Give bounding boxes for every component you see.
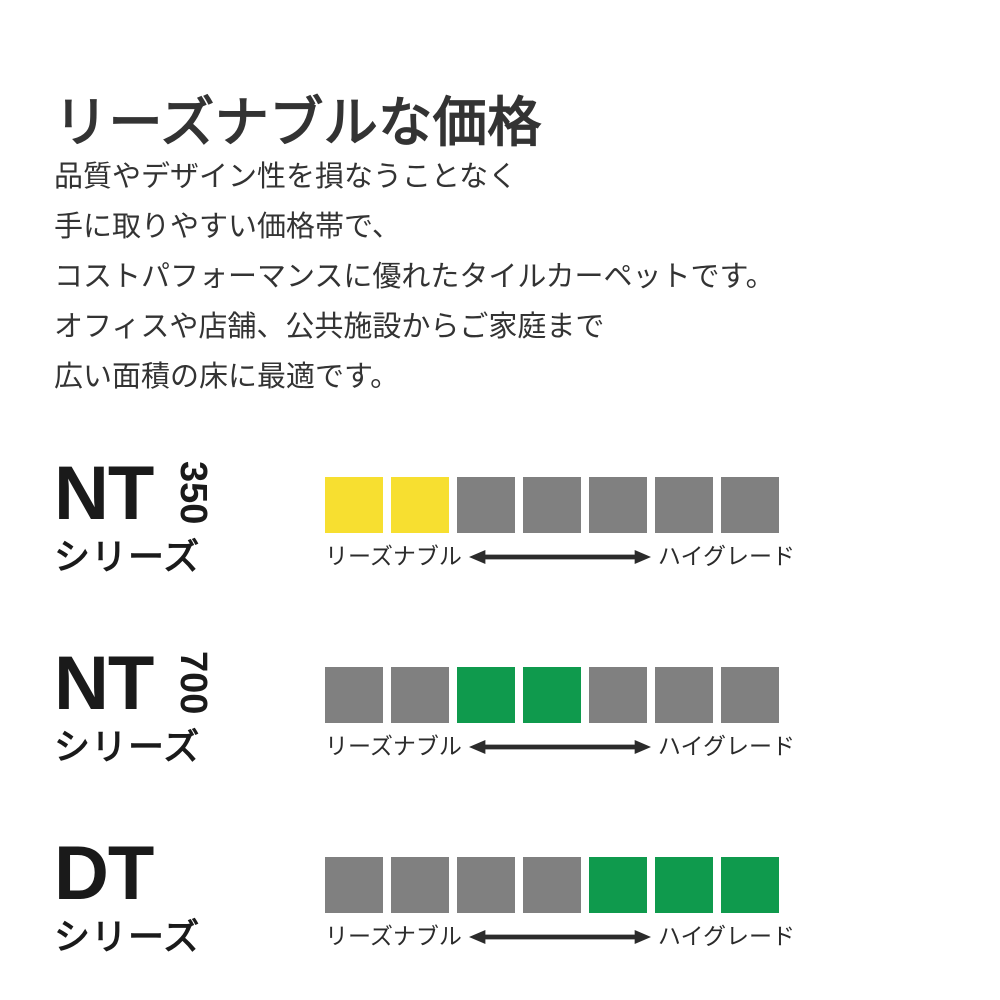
series-suffix: シリーズ	[54, 535, 304, 579]
description-line: 品質やデザイン性を損なうことなく	[54, 152, 775, 202]
grade-scale: リーズナブル ハイグレード	[325, 477, 795, 568]
grade-squares	[325, 667, 795, 723]
double-arrow-icon	[469, 739, 651, 755]
series-name: DT	[54, 835, 304, 913]
grade-squares	[325, 477, 795, 533]
grade-square-5	[589, 477, 647, 533]
grade-square-6	[655, 857, 713, 913]
description-line: コストパフォーマンスに優れたタイルカーペットです。	[54, 252, 775, 302]
legend-left-label: リーズナブル	[325, 545, 462, 568]
legend-right-label: ハイグレード	[658, 925, 795, 948]
grade-square-3	[457, 477, 515, 533]
series-code: NT	[54, 455, 153, 533]
description-text: 品質やデザイン性を損なうことなく 手に取りやすい価格帯で、 コストパフォーマンス…	[54, 152, 775, 402]
series-label: NT 350 シリーズ	[54, 455, 304, 579]
grade-square-2	[391, 667, 449, 723]
grade-square-2	[391, 477, 449, 533]
grade-legend: リーズナブル ハイグレード	[325, 545, 795, 568]
grade-square-6	[655, 477, 713, 533]
series-name: NT 700	[54, 645, 304, 723]
series-code: DT	[54, 835, 153, 913]
grade-square-4	[523, 667, 581, 723]
series-suffix: シリーズ	[54, 915, 304, 959]
grade-scale: リーズナブル ハイグレード	[325, 857, 795, 948]
grade-square-2	[391, 857, 449, 913]
grade-squares	[325, 857, 795, 913]
legend-left-label: リーズナブル	[325, 925, 462, 948]
legend-left-label: リーズナブル	[325, 735, 462, 758]
series-name: NT 350	[54, 455, 304, 533]
grade-square-6	[655, 667, 713, 723]
grade-square-3	[457, 857, 515, 913]
series-label: NT 700 シリーズ	[54, 645, 304, 769]
legend-right-label: ハイグレード	[658, 545, 795, 568]
grade-square-5	[589, 857, 647, 913]
legend-right-label: ハイグレード	[658, 735, 795, 758]
grade-square-1	[325, 857, 383, 913]
description-line: 手に取りやすい価格帯で、	[54, 202, 775, 252]
double-arrow-icon	[469, 549, 651, 565]
grade-square-4	[523, 477, 581, 533]
grade-legend: リーズナブル ハイグレード	[325, 735, 795, 758]
series-number: 350	[174, 461, 212, 524]
grade-square-1	[325, 477, 383, 533]
description-line: オフィスや店舗、公共施設からご家庭まで	[54, 302, 775, 352]
double-arrow-icon	[469, 929, 651, 945]
grade-legend: リーズナブル ハイグレード	[325, 925, 795, 948]
grade-scale: リーズナブル ハイグレード	[325, 667, 795, 758]
grade-square-3	[457, 667, 515, 723]
description-line: 広い面積の床に最適です。	[54, 352, 775, 402]
series-code: NT	[54, 645, 153, 723]
grade-square-7	[721, 477, 779, 533]
grade-square-1	[325, 667, 383, 723]
pricing-infographic: リーズナブルな価格 品質やデザイン性を損なうことなく 手に取りやすい価格帯で、 …	[0, 0, 1000, 1000]
series-number: 700	[174, 651, 212, 714]
series-suffix: シリーズ	[54, 725, 304, 769]
page-title: リーズナブルな価格	[54, 94, 542, 153]
grade-square-7	[721, 667, 779, 723]
grade-square-7	[721, 857, 779, 913]
grade-square-4	[523, 857, 581, 913]
grade-square-5	[589, 667, 647, 723]
series-label: DT シリーズ	[54, 835, 304, 959]
